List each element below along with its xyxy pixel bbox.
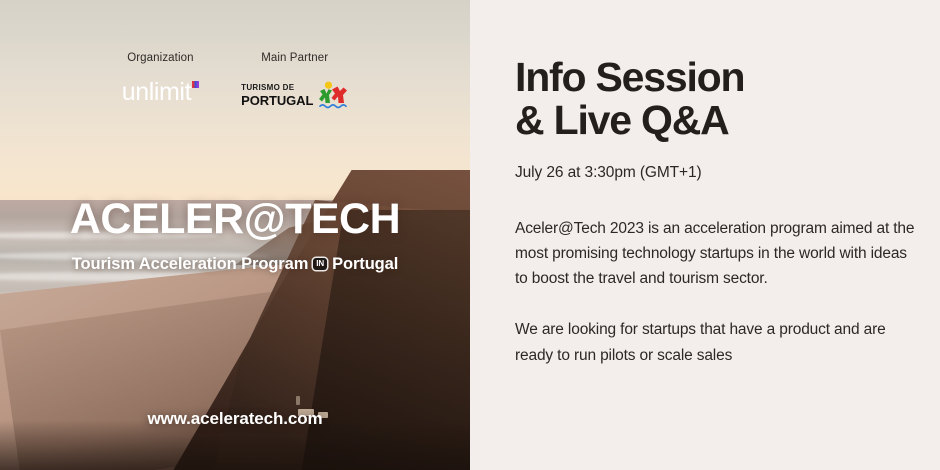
- headline-line-1: Info Session: [515, 54, 744, 100]
- website-url[interactable]: www.aceleratech.com: [0, 409, 470, 429]
- turismo-de-portugal-logo: TURISMO DE PORTUGAL: [241, 80, 348, 110]
- unlimit-logo: unlimit: [122, 80, 199, 105]
- tdp-wordmark: TURISMO DE PORTUGAL: [241, 84, 313, 107]
- program-title: ACELER@TECH: [0, 198, 470, 241]
- program-subtitle: Tourism Acceleration Program IN Portugal: [0, 255, 470, 274]
- tdp-line-turismo-de: TURISMO DE: [241, 84, 294, 92]
- description-paragraph-2: We are looking for startups that have a …: [515, 291, 915, 367]
- event-poster: Organization unlimit Main Partner TURISM…: [0, 0, 940, 470]
- partner-label-main-partner: Main Partner: [261, 52, 328, 64]
- left-panel-content: Organization unlimit Main Partner TURISM…: [0, 0, 470, 470]
- subtitle-text-after: Portugal: [332, 255, 398, 274]
- partner-label-organization: Organization: [127, 52, 193, 64]
- left-photo-panel: Organization unlimit Main Partner TURISM…: [0, 0, 470, 470]
- description-paragraph-1: Aceler@Tech 2023 is an acceleration prog…: [515, 182, 915, 291]
- right-info-panel: Info Session & Live Q&A July 26 at 3:30p…: [470, 0, 940, 470]
- unlimit-wordmark: unlimit: [122, 78, 191, 106]
- event-datetime: July 26 at 3:30pm (GMT+1): [515, 142, 922, 182]
- unlimit-square-mark-icon: [192, 81, 199, 88]
- partner-logos-row: Organization unlimit Main Partner TURISM…: [0, 52, 470, 110]
- partner-main: Main Partner TURISMO DE PORTUGAL: [241, 52, 348, 110]
- subtitle-text-before: Tourism Acceleration Program: [72, 255, 309, 274]
- page-title: Info Session & Live Q&A: [515, 0, 922, 142]
- tdp-figures-icon: [316, 80, 348, 110]
- in-badge-icon: IN: [313, 258, 327, 270]
- right-panel-content: Info Session & Live Q&A July 26 at 3:30p…: [515, 0, 922, 368]
- headline-line-2: & Live Q&A: [515, 99, 922, 142]
- tdp-line-portugal: PORTUGAL: [241, 94, 313, 107]
- partner-organization: Organization unlimit: [122, 52, 199, 110]
